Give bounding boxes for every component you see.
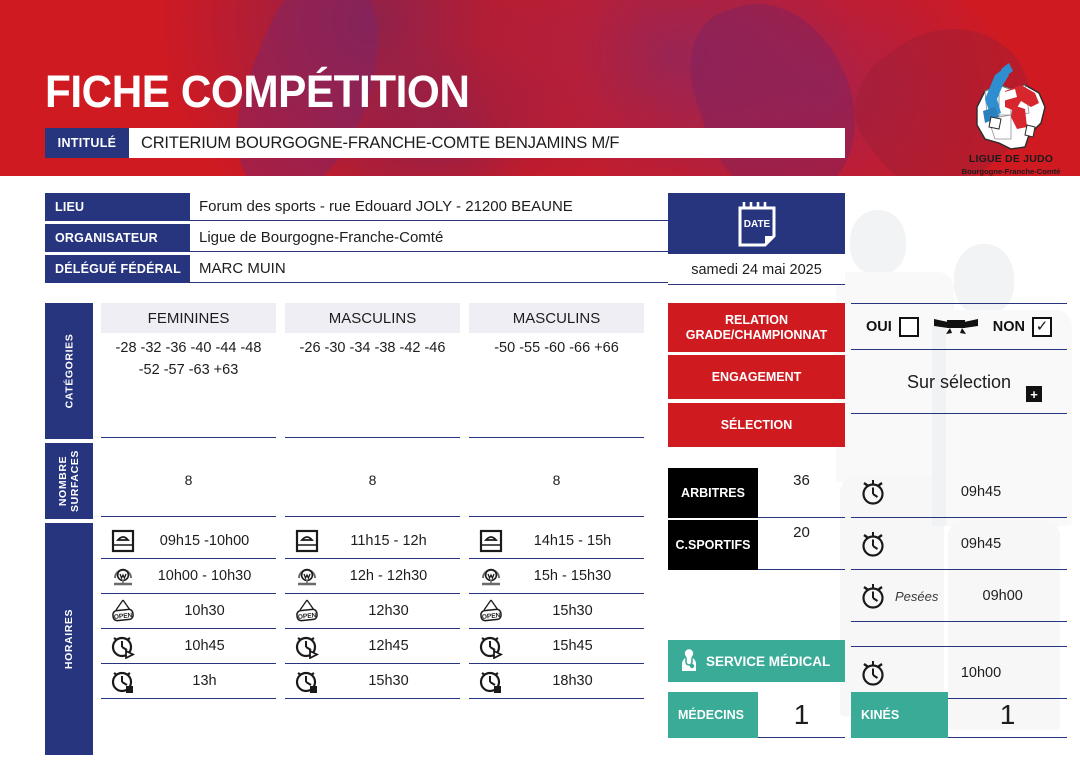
fiche-competition-page: FICHE COMPÉTITION INTITULÉ CRITERIUM BOU… [0,0,1080,767]
oui-label: OUI [866,319,892,335]
divider [101,437,276,438]
section-label-horaires: HORAIRES [45,523,93,755]
schedule-row: 12h45 [285,629,460,664]
section-label-surfaces-text: NOMBRE SURFACES [57,450,81,512]
clock-time: 09h45 [895,536,1067,552]
schedule-time: 10h45 [145,638,276,654]
schedule-row: OPEN 12h30 [285,594,460,629]
organisateur-label: ORGANISATEUR [45,224,190,252]
schedule-time: 12h30 [329,603,460,619]
schedule-row: 10h00 - 10h30 [101,559,276,594]
open-sign-icon: OPEN [469,598,513,624]
add-icon[interactable]: + [1026,386,1042,402]
date-icon-text: DATE [743,219,770,230]
schedule-row: 11h15 - 12h [285,524,460,559]
relation-grade-championnat-label: RELATION GRADE/CHAMPIONNAT [668,303,845,352]
open-sign-icon: OPEN [285,598,329,624]
schedule-time: 12h45 [329,638,460,654]
schedule-row: 18h30 [469,664,644,699]
engagement-label: ENGAGEMENT [668,355,845,399]
schedule-time: 15h30 [329,673,460,689]
clock-start-icon [101,633,145,659]
surfaces-line2: SURFACES [69,450,81,512]
intitule-label: INTITULÉ [45,128,129,158]
logo-name: LIGUE DE JUDO [955,153,1067,165]
scale-icon [285,529,329,553]
schedule-row: 14h15 - 15h [469,524,644,559]
arbitres-label: ARBITRES [668,468,758,518]
divider [101,516,276,517]
service-medical-label: SERVICE MÉDICAL [706,654,830,669]
section-label-horaires-text: HORAIRES [63,609,75,669]
clock-row: 09h45 [851,467,1067,518]
open-sign-icon: OPEN [101,598,145,624]
c-sportifs-label: C.SPORTIFS [668,520,758,570]
alarm-clock-icon [851,659,895,687]
section-label-categories-text: CATÉGORIES [63,334,75,409]
non-checkbox[interactable]: ✓ [1032,317,1052,337]
clock-row: 09h45 [851,519,1067,570]
oui-checkbox[interactable] [899,317,919,337]
schedule-row: OPEN 10h30 [101,594,276,629]
calendar-icon: DATE [731,199,783,249]
categories-line: -52 -57 -63 +63 [101,359,276,381]
schedule-time: 10h30 [145,603,276,619]
section-label-surfaces: NOMBRE SURFACES [45,443,93,519]
schedule-row: 09h15 -10h00 [101,524,276,559]
divider [285,516,460,517]
schedule-time: 15h30 [513,603,644,619]
scale-icon [469,529,513,553]
clock-start-icon [285,633,329,659]
lieu-label: LIEU [45,193,190,221]
schedule-time: 14h15 - 15h [513,533,644,549]
categories-masculins-2: -50 -55 -60 -66 +66 [469,337,644,359]
categories-line: -26 -30 -34 -38 -42 -46 [285,337,460,359]
clock-time: 09h45 [895,484,1067,500]
clock-stop-icon [101,668,145,694]
schedule-time: 13h [145,673,276,689]
divider [469,437,644,438]
scale-icon [101,529,145,553]
alarm-clock-icon [851,478,895,506]
judoka-map-icon [955,55,1067,155]
surfaces-feminines: 8 [101,468,276,492]
clock-time: 09h00 [938,588,1067,604]
schedule-time: 12h - 12h30 [329,568,460,584]
oui-non-row: OUI NON ✓ [851,303,1067,350]
schedule-time: 10h00 - 10h30 [145,568,276,584]
clock-stop-icon [285,668,329,694]
schedule-row: 12h - 12h30 [285,559,460,594]
schedule-time: 11h15 - 12h [329,533,460,549]
alarm-clock-icon [851,582,895,610]
judo-logo-mark [955,55,1067,155]
empty-clock-row [851,623,1067,647]
medecins-label: MÉDECINS [668,692,758,738]
c-sportifs-count[interactable]: 20 [758,520,845,570]
doctor-icon [678,648,700,675]
kines-count[interactable]: 1 [948,692,1067,738]
page-banner: FICHE COMPÉTITION INTITULÉ CRITERIUM BOU… [0,0,1080,176]
selection-label: SÉLECTION [668,403,845,447]
schedule-row: 15h45 [469,629,644,664]
categories-feminines: -28 -32 -36 -40 -44 -48 -52 -57 -63 +63 [101,337,276,381]
relation-line2: GRADE/CHAMPIONNAT [686,328,827,343]
service-medical-header: SERVICE MÉDICAL [668,640,845,682]
pesees-note: Pesées [895,589,938,604]
date-value[interactable]: samedi 24 mai 2025 [668,256,845,285]
column-header-masculins-1: MASCULINS [285,303,460,333]
intitule-value: CRITERIUM BOURGOGNE-FRANCHE-COMTE BENJAM… [129,128,845,158]
schedule-row: OPEN 15h30 [469,594,644,629]
alarm-clock-icon [851,530,895,558]
delegue-federal-label: DÉLÉGUÉ FÉDÉRAL [45,255,190,283]
clock-time: 10h00 [895,665,1067,681]
date-icon-block: DATE [668,193,845,254]
surfaces-masculins-1: 8 [285,468,460,492]
surfaces-masculins-2: 8 [469,468,644,492]
schedule-row: 10h45 [101,629,276,664]
clock-stop-icon [469,668,513,694]
logo-region: Bourgogne-Franche-Comté [955,167,1067,176]
kines-label: KINÉS [851,692,948,738]
clock-start-icon [469,633,513,659]
competition-title-row: INTITULÉ CRITERIUM BOURGOGNE-FRANCHE-COM… [45,128,845,158]
clock-row-pesees: Pesées 09h00 [851,571,1067,622]
medecins-count[interactable]: 1 [758,692,845,738]
categories-masculins-1: -26 -30 -34 -38 -42 -46 [285,337,460,359]
column-header-masculins-2: MASCULINS [469,303,644,333]
schedule-time: 18h30 [513,673,644,689]
ligue-de-judo-logo: LIGUE DE JUDO Bourgogne-Franche-Comté [955,55,1067,195]
schedule-row: 15h30 [285,664,460,699]
page-title: FICHE COMPÉTITION [45,66,469,118]
divider [469,516,644,517]
non-label: NON [993,319,1025,335]
section-label-categories: CATÉGORIES [45,303,93,439]
arbitres-count[interactable]: 36 [758,468,845,518]
column-header-feminines: FEMININES [101,303,276,333]
relation-line1: RELATION [686,313,827,328]
divider [285,437,460,438]
schedule-row: 13h [101,664,276,699]
surfaces-line1: NOMBRE [57,456,69,506]
judo-belt-icon [932,313,980,340]
referee-icon [469,564,513,588]
referee-icon [285,564,329,588]
referee-icon [101,564,145,588]
categories-line: -50 -55 -60 -66 +66 [469,337,644,359]
engagement-value[interactable]: Sur sélection [851,352,1067,414]
categories-line: -28 -32 -36 -40 -44 -48 [101,337,276,359]
schedule-time: 15h - 15h30 [513,568,644,584]
schedule-time: 15h45 [513,638,644,654]
schedule-time: 09h15 -10h00 [145,533,276,549]
schedule-row: 15h - 15h30 [469,559,644,594]
